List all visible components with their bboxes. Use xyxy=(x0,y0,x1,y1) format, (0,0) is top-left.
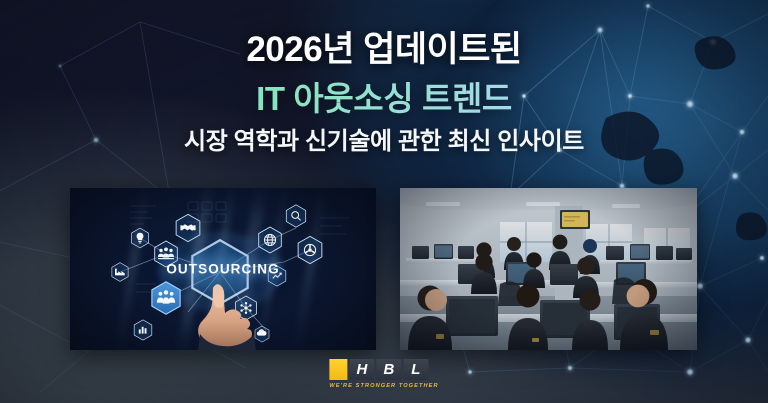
outsourcing-label: OUTSOURCING xyxy=(166,262,279,277)
title-line-3-subtitle: 시장 역학과 신기술에 관한 최신 인사이트 xyxy=(0,128,768,157)
logo-letter-h: H xyxy=(349,359,374,380)
office-team-photo xyxy=(400,188,697,350)
hbl-logo: H B L WE'RE STRONGER TOGETHER xyxy=(329,359,438,389)
heading-block: 2026년 업데이트된 IT 아웃소싱 트렌드 시장 역학과 신기술에 관한 최… xyxy=(0,30,768,157)
logo-mark-row: H B L xyxy=(329,359,438,380)
logo-letter-l: L xyxy=(403,359,428,380)
logo-square-mark xyxy=(329,359,347,380)
promo-banner: 2026년 업데이트된 IT 아웃소싱 트렌드 시장 역학과 신기술에 관한 최… xyxy=(0,0,768,403)
office-scene xyxy=(400,188,697,350)
title-line-1: 2026년 업데이트된 xyxy=(0,30,768,71)
logo-letter-b: B xyxy=(376,359,401,380)
logo-tagline: WE'RE STRONGER TOGETHER xyxy=(329,383,438,389)
pointing-hand xyxy=(188,280,274,350)
title-line-2-highlight: IT 아웃소싱 트렌드 xyxy=(0,79,768,119)
outsourcing-concept-image: OUTSOURCING xyxy=(70,188,376,350)
